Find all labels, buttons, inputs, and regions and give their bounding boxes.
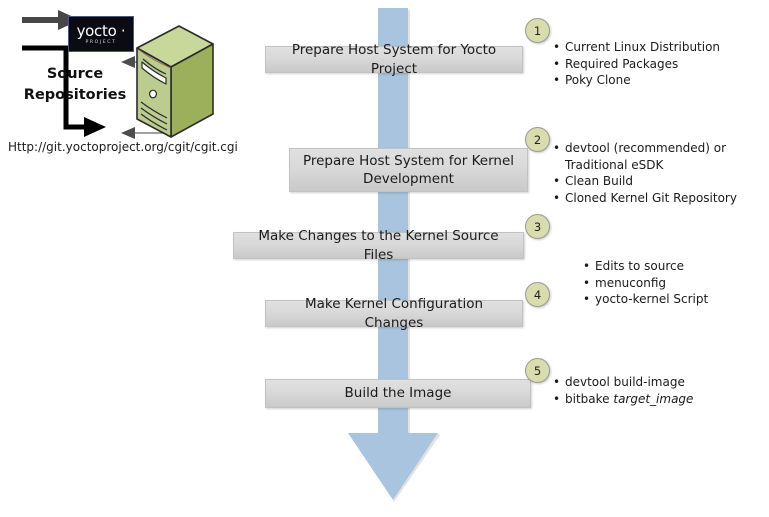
step-marker-2-number: 2 (534, 133, 541, 147)
list-item: devtool (recommended) or Traditional eSD… (553, 140, 753, 173)
list-item: devtool build-image (553, 374, 753, 391)
step-marker-2: 2 (525, 127, 550, 152)
process-box-step-2-label: Prepare Host System for Kernel Developme… (298, 152, 519, 188)
step-marker-4: 4 (525, 282, 550, 307)
step-1-bullet-list: Current Linux Distribution Required Pack… (553, 39, 753, 89)
step-marker-1-number: 1 (534, 24, 541, 38)
process-box-step-5[interactable]: Build the Image (265, 379, 531, 408)
process-box-step-4[interactable]: Make Kernel Configuration Changes (265, 300, 523, 327)
yocto-logo-subtext: PROJECT (85, 40, 116, 45)
step-marker-4-number: 4 (534, 288, 541, 302)
server-tower-icon (133, 24, 215, 141)
list-item: Required Packages (553, 56, 753, 73)
step-marker-3-number: 3 (534, 220, 541, 234)
step-marker-1: 1 (525, 18, 550, 43)
process-box-step-1[interactable]: Prepare Host System for Yocto Project (265, 46, 523, 73)
list-item: Current Linux Distribution (553, 39, 753, 56)
yocto-logo-wordmark: yocto · (77, 24, 126, 38)
list-item: bitbake target_image (553, 391, 753, 408)
list-item: menuconfig (583, 275, 763, 292)
process-box-step-3[interactable]: Make Changes to the Kernel Source Files (233, 232, 524, 259)
process-box-step-1-label: Prepare Host System for Yocto Project (274, 41, 514, 77)
step-2-bullet-list: devtool (recommended) or Traditional eSD… (553, 140, 753, 206)
source-repositories-label-line2: Repositories (14, 85, 136, 106)
list-item: Clean Build (553, 173, 753, 190)
step-marker-5-number: 5 (534, 364, 541, 378)
source-repositories-label: Source Repositories (14, 64, 136, 106)
source-repositories-label-line1: Source (14, 64, 136, 85)
yocto-project-logo: yocto · PROJECT (68, 16, 134, 52)
step-marker-5: 5 (525, 358, 550, 383)
list-item: Cloned Kernel Git Repository (553, 190, 753, 207)
list-item: yocto-kernel Script (583, 291, 763, 308)
process-box-step-3-label: Make Changes to the Kernel Source Files (242, 227, 515, 263)
list-item: Poky Clone (553, 72, 753, 89)
bitbake-target-image-italic: target_image (613, 392, 693, 406)
step-5-bullet-list: devtool build-image bitbake target_image (553, 374, 753, 407)
list-item: Edits to source (583, 258, 763, 275)
process-box-step-2[interactable]: Prepare Host System for Kernel Developme… (289, 148, 528, 192)
source-repository-url: Http://git.yoctoproject.org/cgit/cgit.cg… (8, 140, 238, 154)
process-box-step-4-label: Make Kernel Configuration Changes (274, 295, 514, 331)
steps-3-4-bullet-list: Edits to source menuconfig yocto-kernel … (583, 258, 763, 308)
diagram-canvas: yocto · PROJECT Source Repositories Http… (0, 0, 769, 517)
process-box-step-5-label: Build the Image (345, 384, 452, 402)
step-marker-3: 3 (525, 214, 550, 239)
